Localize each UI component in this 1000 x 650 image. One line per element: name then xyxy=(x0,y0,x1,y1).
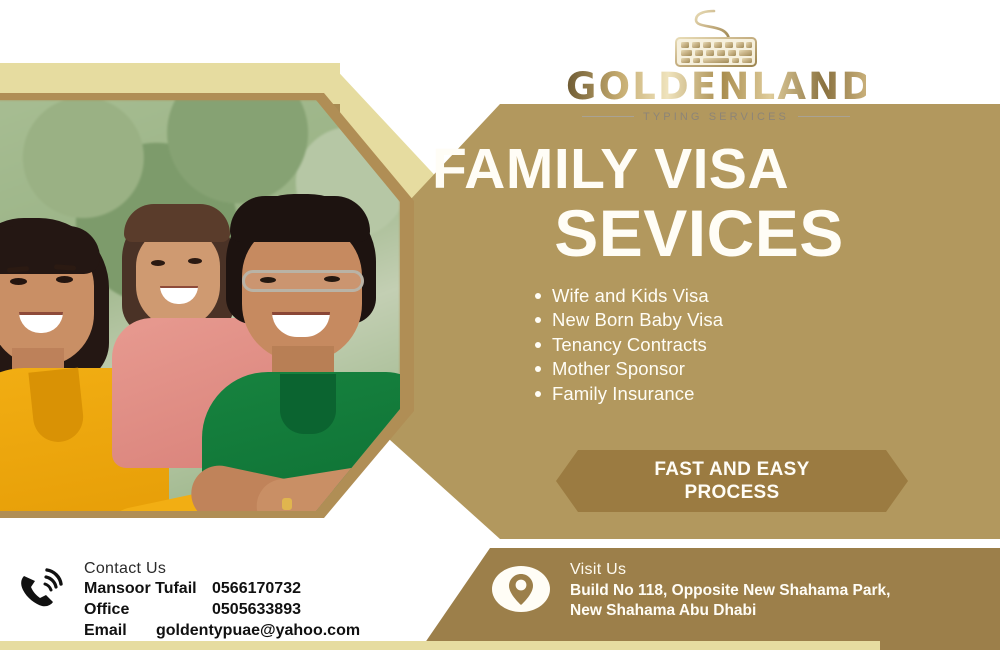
father-wedding-ring xyxy=(282,498,292,510)
headline-line-1: FAMILY VISA xyxy=(432,142,972,198)
visit-address: Build No 118, Opposite New Shahama Park,… xyxy=(570,581,910,621)
daughter-face xyxy=(136,228,220,328)
visit-block: Visit Us Build No 118, Opposite New Shah… xyxy=(492,560,910,621)
tagline-rule-right xyxy=(798,116,850,117)
father-hair-front xyxy=(230,196,370,242)
father-eye-right xyxy=(324,276,340,282)
contact-label: Email xyxy=(84,621,156,642)
father-eye-left xyxy=(260,277,276,283)
daughter-eye-left xyxy=(151,260,165,266)
contact-block: Contact Us Mansoor Tufail 0566170732 Off… xyxy=(14,556,454,646)
keyboard-icon xyxy=(666,8,766,70)
contact-value[interactable]: 0566170732 xyxy=(212,579,301,600)
list-item: New Born Baby Visa xyxy=(552,308,950,332)
headline-block: FAMILY VISA SEVICES xyxy=(432,142,972,266)
list-item: Tenancy Contracts xyxy=(552,333,950,357)
tagline-rule-left xyxy=(582,116,634,117)
list-item: Family Insurance xyxy=(552,382,950,406)
visit-heading: Visit Us xyxy=(570,560,910,581)
location-pin-icon xyxy=(492,566,550,612)
contact-label: Mansoor Tufail xyxy=(84,579,212,600)
visit-details: Visit Us Build No 118, Opposite New Shah… xyxy=(570,560,910,621)
daughter-hair-top xyxy=(124,204,230,242)
banner-line-1: FAST AND EASY xyxy=(654,458,809,481)
phone-ringing-icon xyxy=(14,562,70,618)
fast-easy-process-banner: FAST AND EASY PROCESS xyxy=(556,450,908,512)
mother-eye-left xyxy=(10,278,27,285)
daughter-eye-right xyxy=(188,258,202,264)
flyer-canvas: GOLDENLAND TYPING SERVICES FAMILY VISA S… xyxy=(0,0,1000,650)
brand-logo: GOLDENLAND TYPING SERVICES xyxy=(566,8,866,138)
list-item: Mother Sponsor xyxy=(552,357,950,381)
contact-row[interactable]: Office 0505633893 xyxy=(84,600,360,621)
services-list: Wife and Kids Visa New Born Baby Visa Te… xyxy=(530,284,950,406)
banner-text: FAST AND EASY PROCESS xyxy=(654,458,809,504)
headline-line-2: SEVICES xyxy=(432,200,972,266)
family-photo xyxy=(0,100,400,511)
mother-eye-right xyxy=(56,276,73,283)
contact-value[interactable]: 0505633893 xyxy=(212,600,301,621)
contact-row[interactable]: Mansoor Tufail 0566170732 xyxy=(84,579,360,600)
contact-row[interactable]: Email goldentypuae@yahoo.com xyxy=(84,621,360,642)
contact-value[interactable]: goldentypuae@yahoo.com xyxy=(156,621,360,642)
brand-tagline-wrap: TYPING SERVICES xyxy=(566,111,866,123)
contact-heading: Contact Us xyxy=(84,559,360,579)
father-face xyxy=(242,222,362,362)
brand-name: GOLDENLAND xyxy=(566,68,866,107)
father-collar xyxy=(280,374,336,434)
brand-tagline: TYPING SERVICES xyxy=(643,111,789,123)
banner-line-2: PROCESS xyxy=(654,481,809,504)
contact-label: Office xyxy=(84,600,212,621)
list-item: Wife and Kids Visa xyxy=(552,284,950,308)
contact-details: Contact Us Mansoor Tufail 0566170732 Off… xyxy=(84,556,360,646)
